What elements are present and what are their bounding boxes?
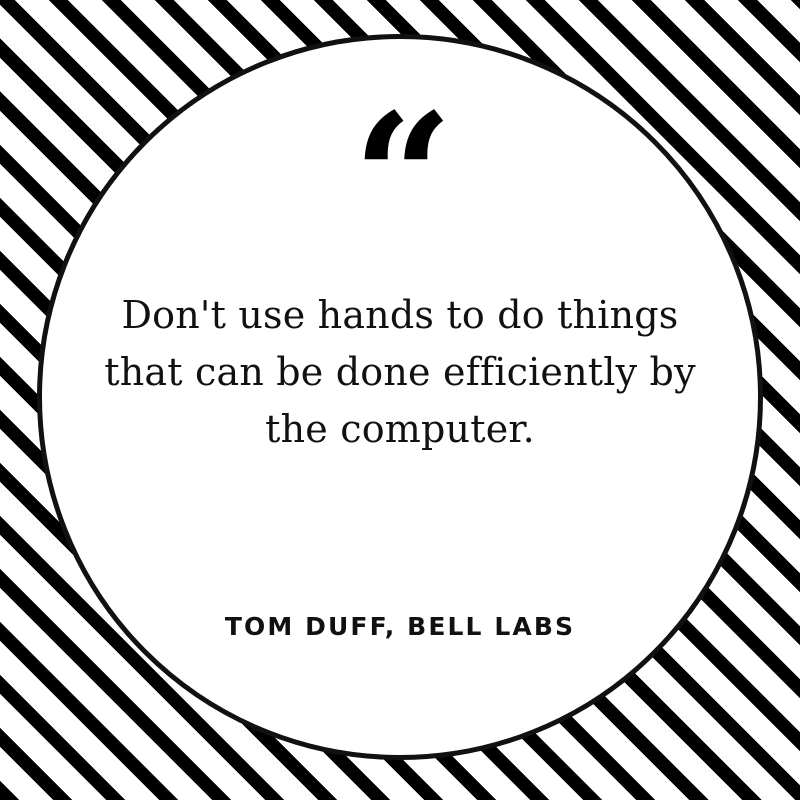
white-circle-frame: “ Don't use hands to do things that can … (37, 34, 763, 760)
quote-line: that can be done efficiently by (90, 344, 710, 401)
left-double-quotation-mark-icon: “ (353, 91, 448, 199)
quote-line: Don't use hands to do things (90, 287, 710, 344)
quote-line: the computer. (90, 401, 710, 458)
quote-text: Don't use hands to do things that can be… (90, 287, 710, 458)
quote-attribution: TOM DUFF, BELL LABS (225, 612, 575, 641)
circle-content: “ Don't use hands to do things that can … (42, 39, 758, 755)
quote-card-canvas: “ Don't use hands to do things that can … (0, 0, 800, 800)
